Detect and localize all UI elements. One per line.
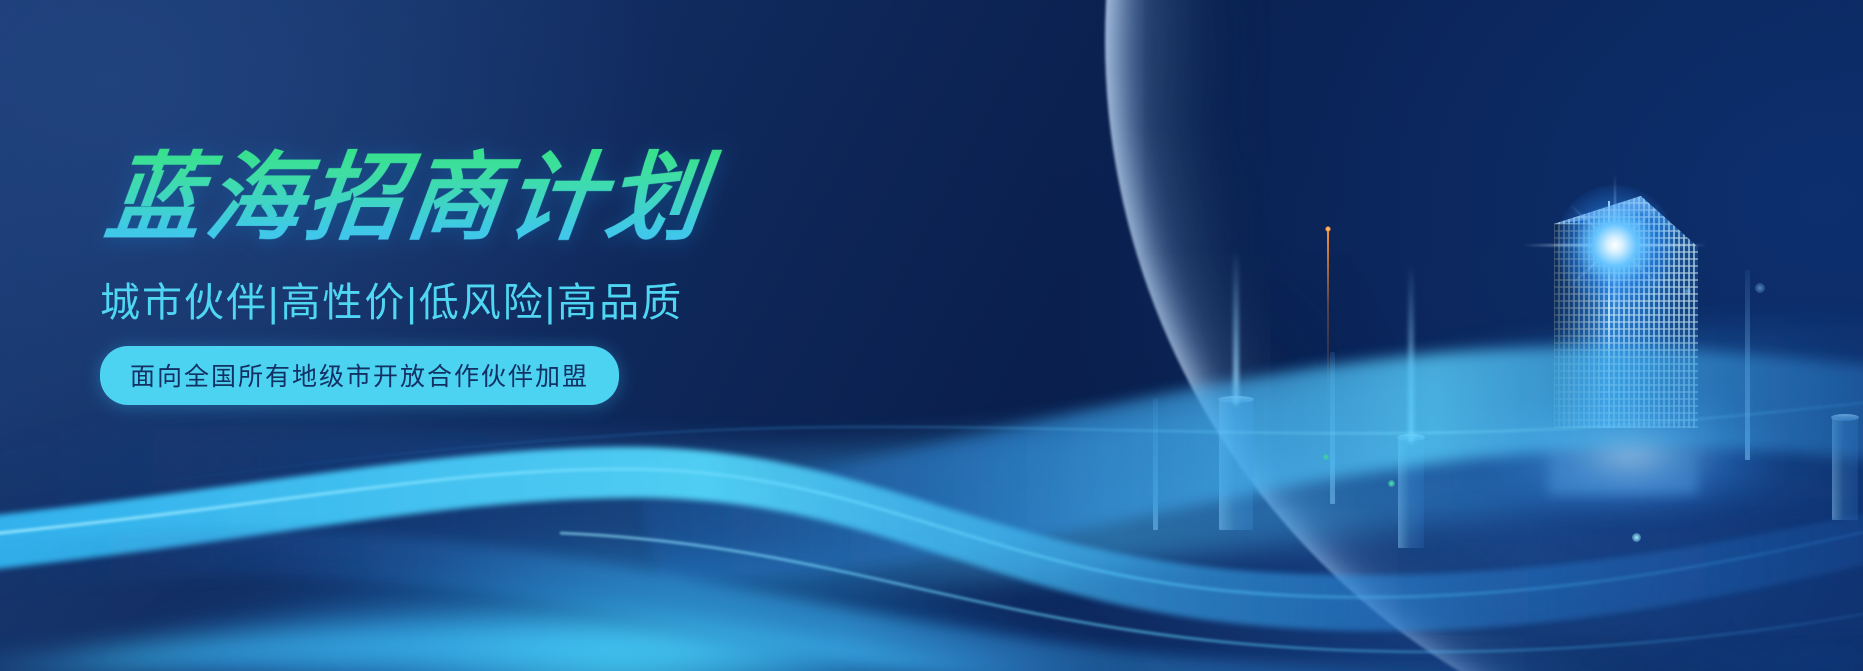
sparkle-dot-green-2	[1323, 454, 1329, 460]
page-title: 蓝海招商计划	[100, 148, 813, 254]
sparkle-dot-cyan-2	[1755, 283, 1765, 293]
status-badge: 面向全国所有地级市开放合作伙伴加盟	[100, 346, 619, 405]
sparkle-dot-green-1	[1388, 480, 1395, 487]
subtitle-taglines: 城市伙伴|高性价|低风险|高品质	[100, 270, 800, 328]
sparkle-dot-cyan-3	[1684, 288, 1691, 295]
headline-block: 蓝海招商计划 城市伙伴|高性价|低风险|高品质 面向全国所有地级市开放合作伙伴加…	[100, 148, 800, 405]
promo-banner: 蓝海招商计划 城市伙伴|高性价|低风险|高品质 面向全国所有地级市开放合作伙伴加…	[0, 0, 1863, 671]
sparkle-dot-cyan-1	[1632, 533, 1641, 542]
